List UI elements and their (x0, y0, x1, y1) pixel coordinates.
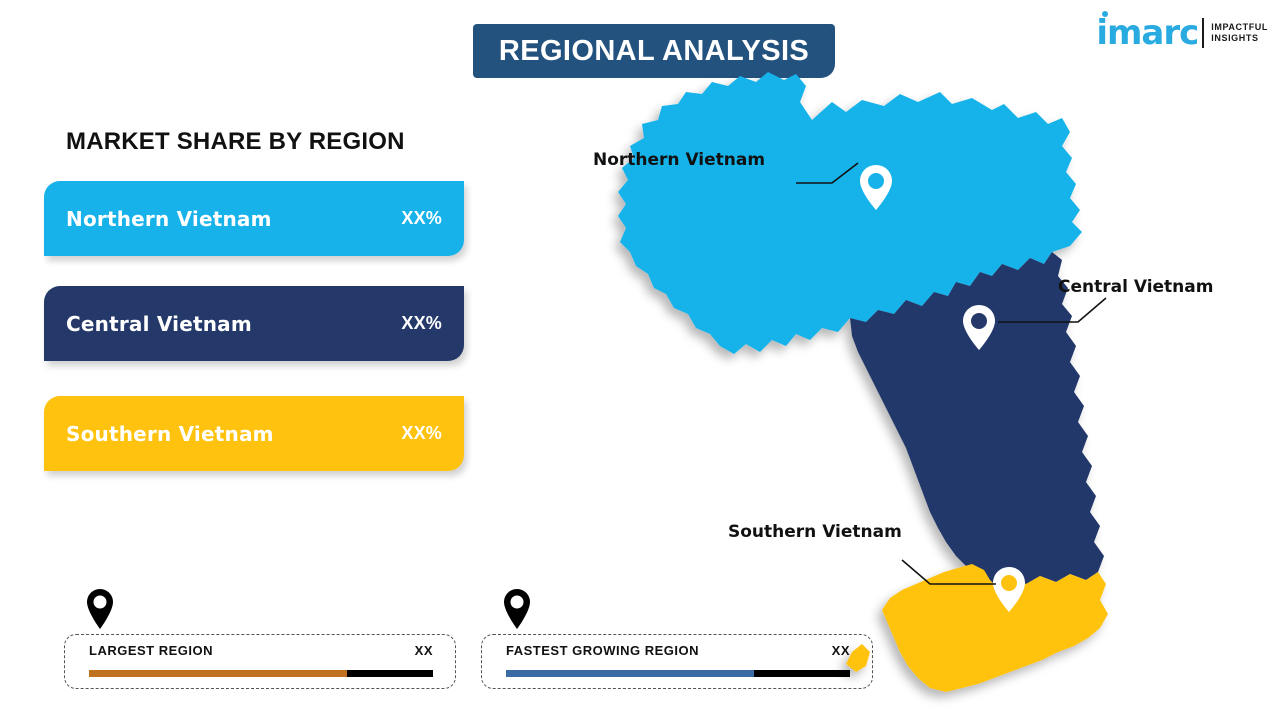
map-label-northern-vietnam: Northern Vietnam (593, 150, 765, 170)
logo-tagline: IMPACTFUL INSIGHTS (1211, 22, 1268, 45)
progress-track (89, 670, 433, 677)
map-label-southern-vietnam: Southern Vietnam (728, 522, 902, 542)
region-card-label: Central Vietnam (66, 312, 252, 336)
region-card-label: Southern Vietnam (66, 422, 274, 446)
stat-label: LARGEST REGION (89, 643, 213, 658)
stat-row: LARGEST REGION XX (89, 643, 433, 658)
stat-value: XX (415, 643, 433, 658)
region-card-central-vietnam[interactable]: Central Vietnam XX% (44, 286, 464, 361)
map-label-central-vietnam: Central Vietnam (1058, 277, 1213, 297)
imarc-logo: imarc IMPACTFUL INSIGHTS (1096, 10, 1268, 56)
logo-mark: imarc (1096, 16, 1198, 50)
logo-wordmark: imarc (1096, 16, 1198, 50)
logo-tagline-line1: IMPACTFUL (1211, 22, 1268, 33)
market-share-heading: MARKET SHARE BY REGION (66, 128, 405, 156)
infographic-canvas: REGIONAL ANALYSIS imarc IMPACTFUL INSIGH… (0, 0, 1280, 720)
vietnam-regional-map: Northern Vietnam Central Vietnam Souther… (600, 60, 1280, 720)
region-card-northern-vietnam[interactable]: Northern Vietnam XX% (44, 181, 464, 256)
logo-divider (1202, 18, 1204, 48)
region-card-value: XX% (401, 313, 442, 334)
largest-region-stat-box: LARGEST REGION XX (64, 634, 456, 689)
region-card-value: XX% (401, 208, 442, 229)
region-card-value: XX% (401, 423, 442, 444)
region-card-southern-vietnam[interactable]: Southern Vietnam XX% (44, 396, 464, 471)
logo-tagline-line2: INSIGHTS (1211, 33, 1268, 44)
map-pin-icon (83, 587, 117, 636)
map-pin-icon (500, 587, 534, 636)
region-card-label: Northern Vietnam (66, 207, 272, 231)
progress-fill (89, 670, 347, 677)
